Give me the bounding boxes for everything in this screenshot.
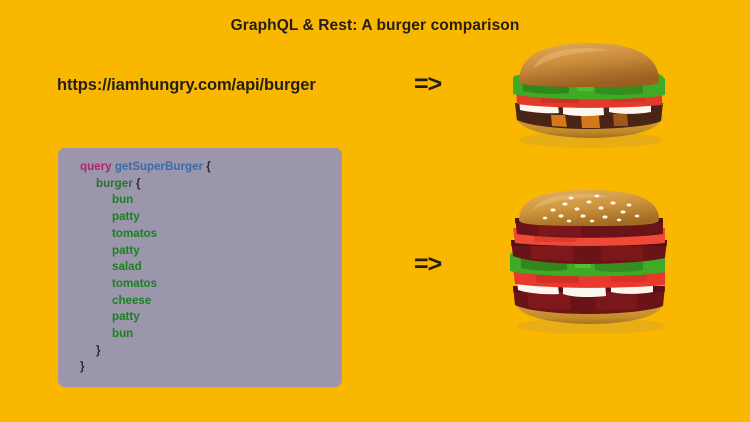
code-token-operation-name: getSuperBurger bbox=[115, 160, 203, 173]
code-line: bun bbox=[58, 326, 342, 343]
code-line: } bbox=[58, 343, 342, 360]
code-token-field: patty bbox=[112, 210, 140, 223]
rest-arrow-icon: => bbox=[414, 70, 441, 99]
code-token-punct: } bbox=[80, 360, 85, 373]
code-line: query getSuperBurger { bbox=[58, 159, 342, 176]
code-token-field: bun bbox=[112, 193, 133, 206]
code-token-punct: { bbox=[133, 177, 141, 190]
code-token-field: tomatos bbox=[112, 277, 157, 290]
code-line: burger { bbox=[58, 176, 342, 193]
code-line: tomatos bbox=[58, 276, 342, 293]
slide-canvas: GraphQL & Rest: A burger comparison http… bbox=[0, 0, 750, 422]
code-line: } bbox=[58, 359, 342, 376]
code-line: bun bbox=[58, 192, 342, 209]
graphql-query-panel: query getSuperBurger {burger {bunpattyto… bbox=[58, 148, 342, 387]
simple-burger-image bbox=[499, 41, 677, 149]
code-line: patty bbox=[58, 309, 342, 326]
code-token-punct: { bbox=[203, 160, 211, 173]
code-token-field: tomatos bbox=[112, 227, 157, 240]
code-token-field: patty bbox=[112, 244, 140, 257]
super-burger-image bbox=[497, 188, 679, 336]
rest-endpoint-url: https://iamhungry.com/api/burger bbox=[57, 76, 316, 95]
code-line: cheese bbox=[58, 293, 342, 310]
page-title: GraphQL & Rest: A burger comparison bbox=[0, 17, 750, 35]
graphql-arrow-icon: => bbox=[414, 250, 441, 279]
code-token-field: salad bbox=[112, 260, 142, 273]
code-line: tomatos bbox=[58, 226, 342, 243]
code-token-field: bun bbox=[112, 327, 133, 340]
code-token-field: cheese bbox=[112, 294, 151, 307]
code-line: patty bbox=[58, 209, 342, 226]
code-token-keyword: query bbox=[80, 160, 112, 173]
code-token-field: patty bbox=[112, 310, 140, 323]
code-token-punct: } bbox=[96, 344, 101, 357]
code-token-selection: burger bbox=[96, 177, 133, 190]
code-line: patty bbox=[58, 243, 342, 260]
code-line: salad bbox=[58, 259, 342, 276]
